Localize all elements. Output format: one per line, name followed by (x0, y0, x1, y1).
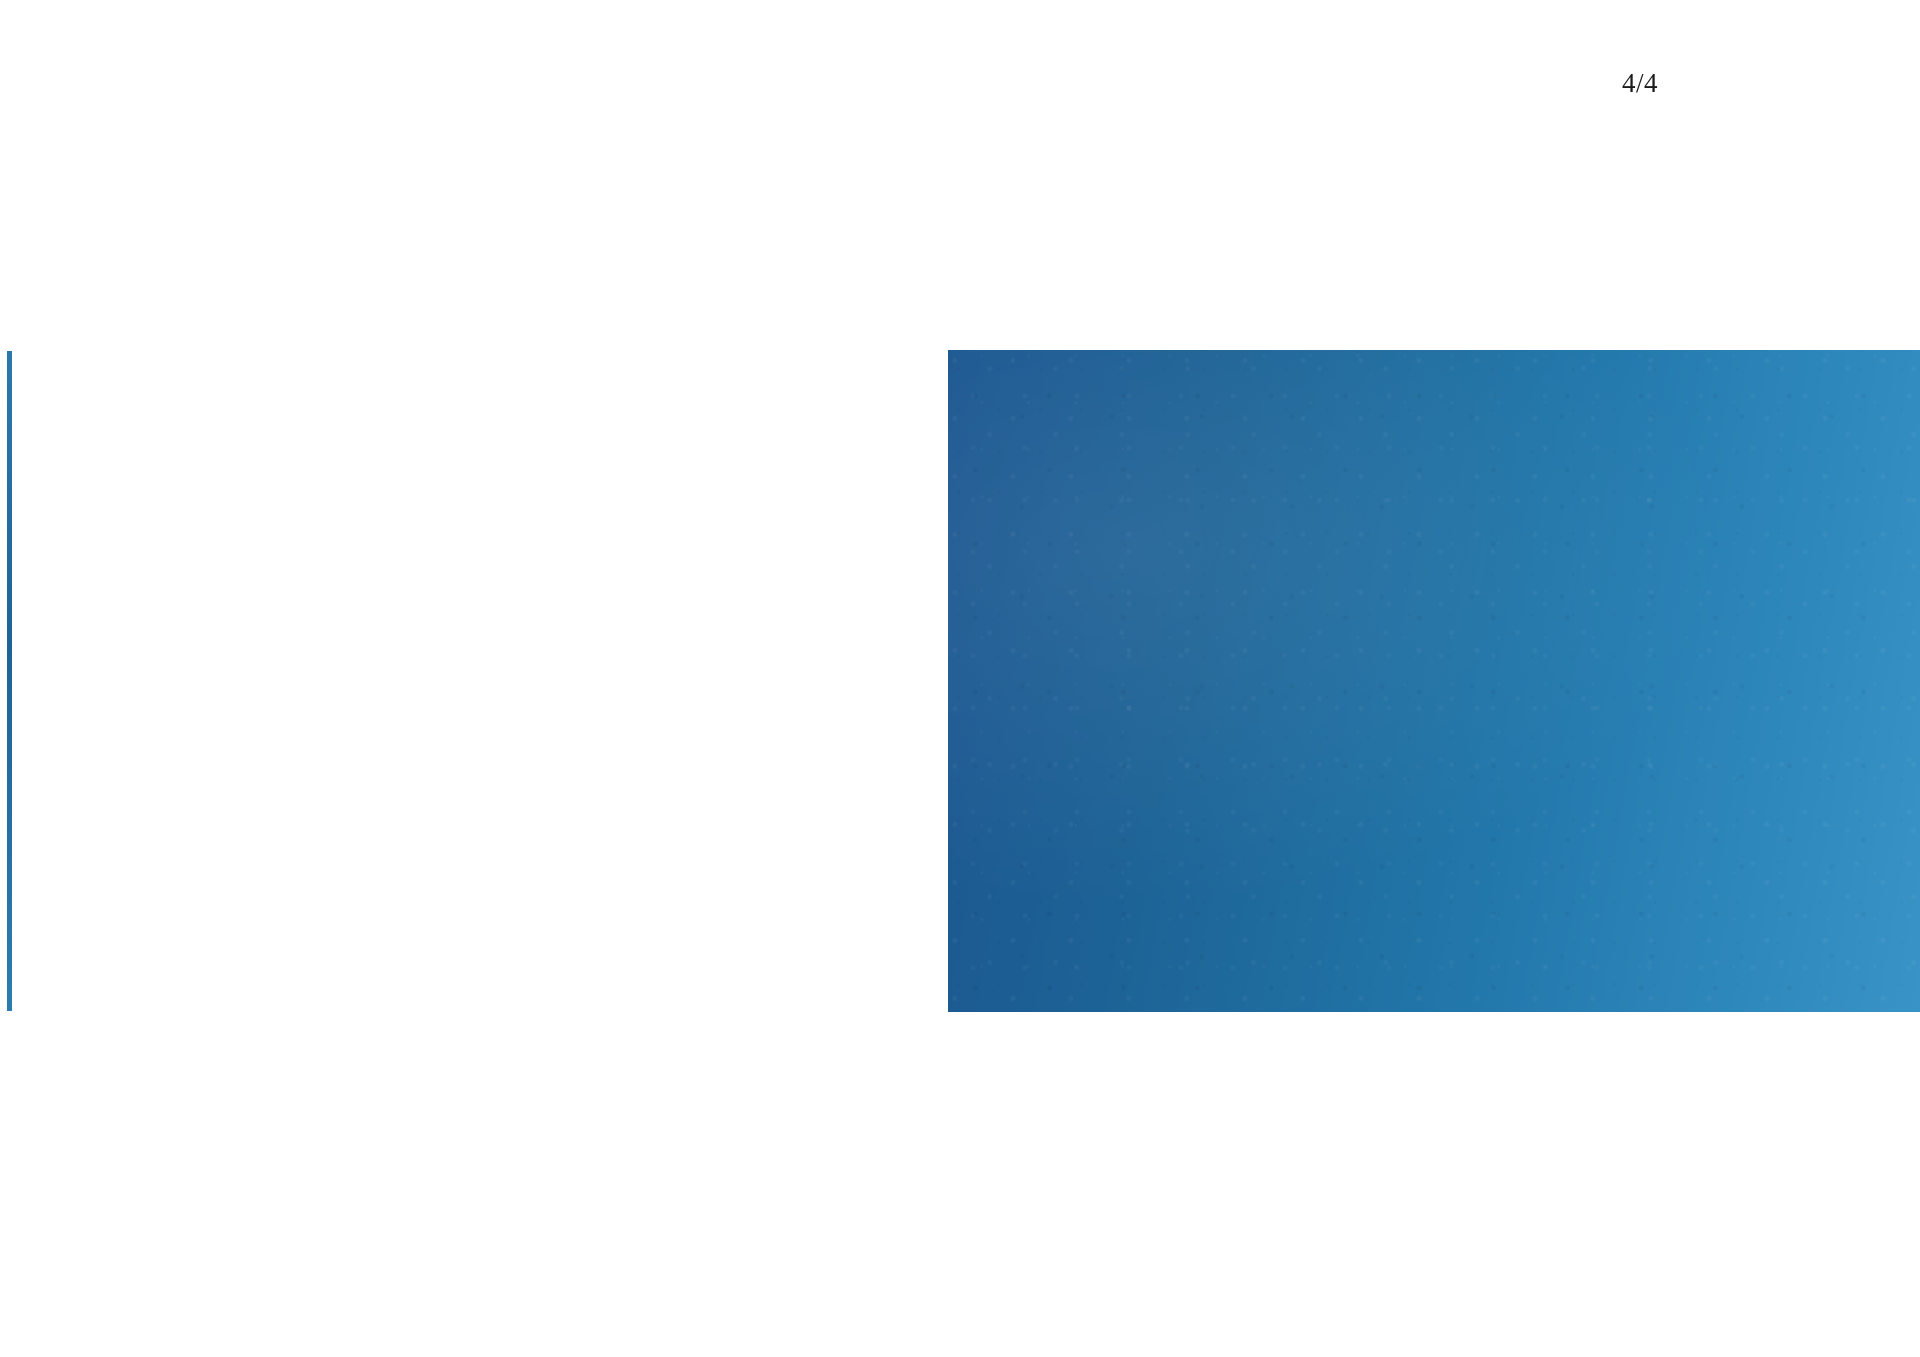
page-indicator: 4/4 (1622, 68, 1658, 99)
page-root: 4/4 www.A2ZProperty.in A2Z Property SOCI… (0, 0, 1920, 1357)
brochure-panel: www.A2ZProperty.in A2Z Property SOCIETY … (948, 350, 1920, 1012)
adjacent-page-edge-strip (7, 351, 12, 1011)
